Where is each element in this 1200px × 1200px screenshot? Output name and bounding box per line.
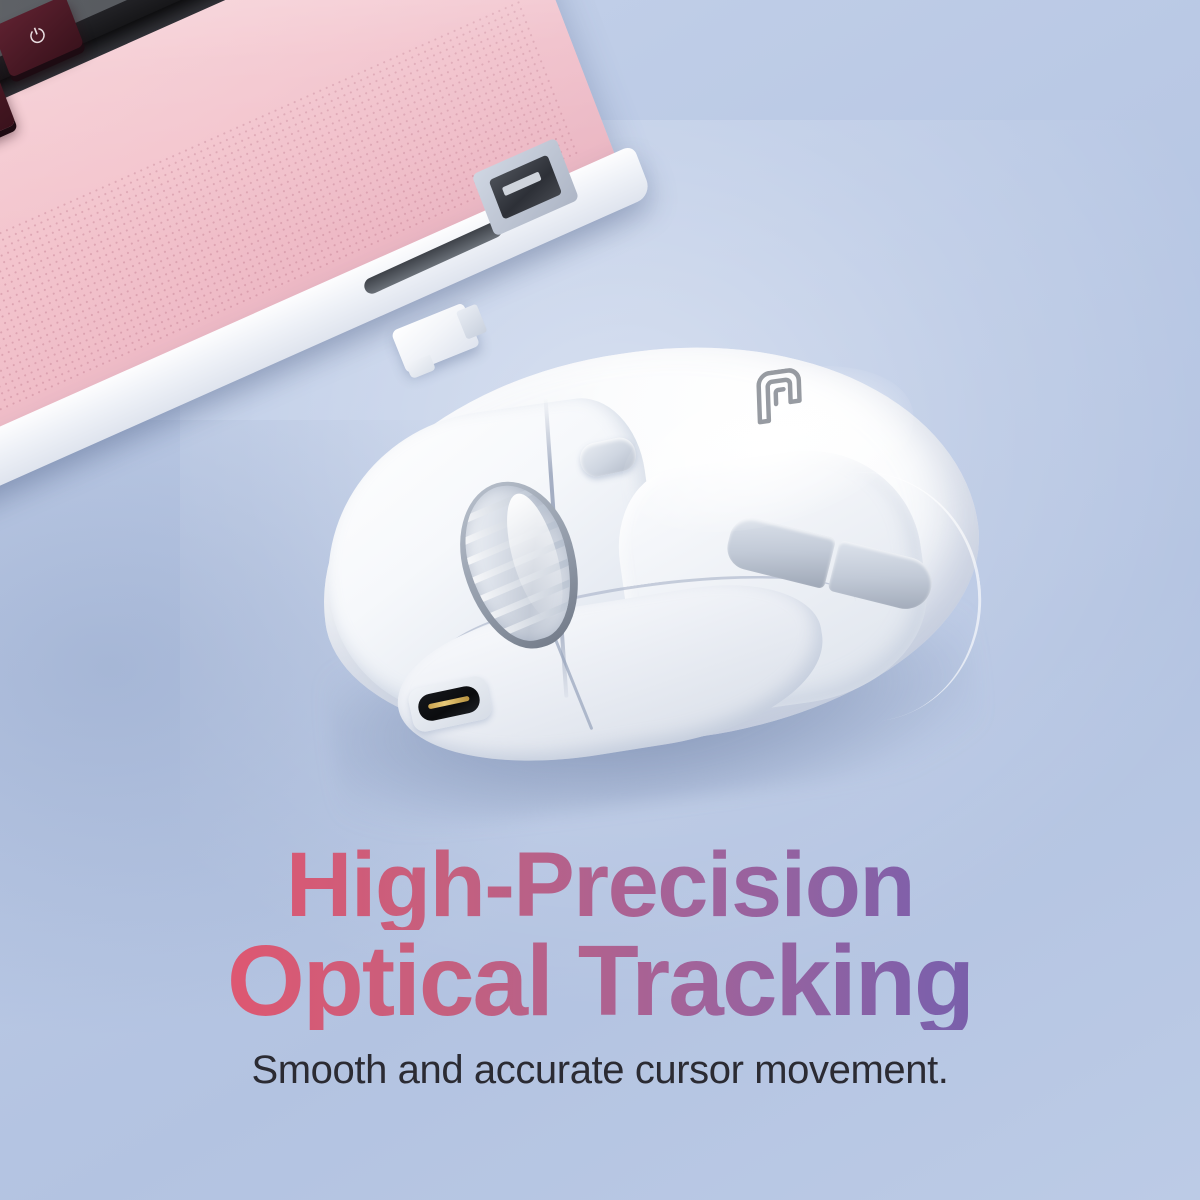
headline-line-2: Optical Tracking xyxy=(0,932,1200,1030)
subheadline: Smooth and accurate cursor movement. xyxy=(0,1048,1200,1093)
usb-c-contacts xyxy=(428,696,470,710)
portronics-logo xyxy=(749,366,804,428)
marketing-copy: High-Precision Optical Tracking Smooth a… xyxy=(0,840,1200,1093)
headline-line-1: High-Precision xyxy=(0,840,1200,930)
marketing-banner: 🔈 F11 🔊 F12 ⏻ + = delete \ | — _ return xyxy=(0,0,1200,1200)
wireless-mouse xyxy=(318,352,988,792)
